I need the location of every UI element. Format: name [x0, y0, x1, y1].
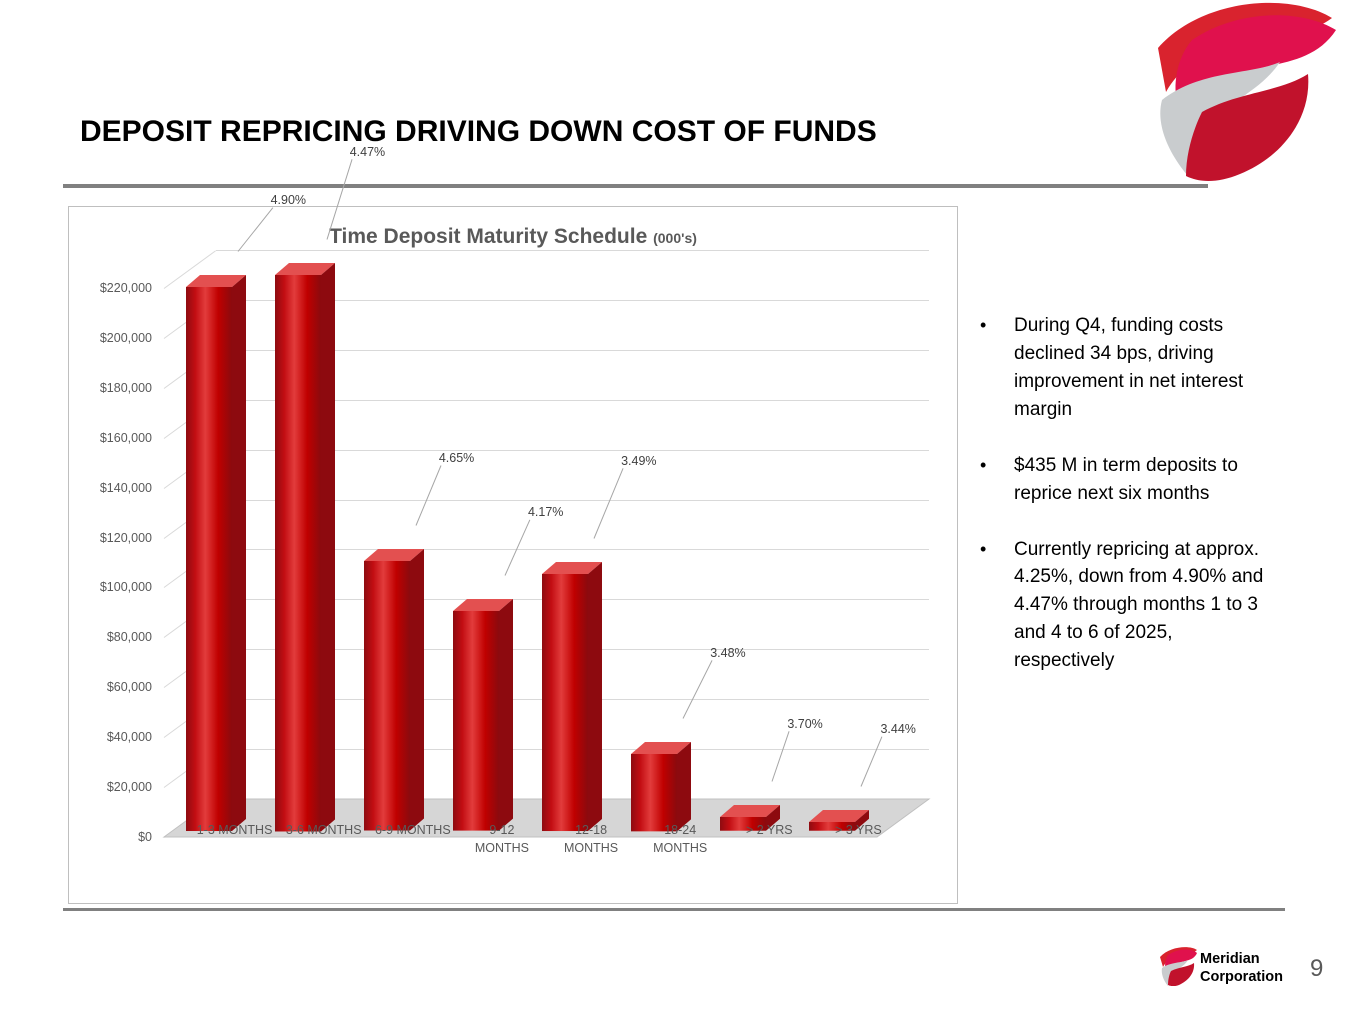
- bullet-item: •During Q4, funding costs declined 34 bp…: [980, 312, 1270, 424]
- footer-logo-icon: [1158, 946, 1198, 986]
- bullet-marker-icon: •: [980, 312, 1014, 424]
- bar-column: [275, 243, 321, 837]
- bullet-text: During Q4, funding costs declined 34 bps…: [1014, 312, 1270, 424]
- bar-side-face: [588, 562, 602, 831]
- bar-front-face: [453, 611, 499, 831]
- bar-column: [542, 542, 588, 837]
- bar-data-label: 4.17%: [528, 505, 563, 519]
- bar-front-face: [364, 561, 410, 831]
- footer-brand-line1: Meridian: [1200, 950, 1283, 968]
- bar-data-label: 3.49%: [621, 454, 656, 468]
- bar-side-face: [410, 549, 424, 831]
- bar-data-label: 3.44%: [880, 722, 915, 736]
- chart-plot-area: $0$20,000$40,000$60,000$80,000$100,000$1…: [69, 207, 957, 903]
- page-number: 9: [1310, 955, 1323, 983]
- bullet-marker-icon: •: [980, 452, 1014, 508]
- bar-side-face: [677, 742, 691, 831]
- bar-side-face: [321, 263, 335, 831]
- bar-column: [186, 255, 232, 837]
- bullet-item: •$435 M in term deposits to reprice next…: [980, 452, 1270, 508]
- bar-front-face: [631, 754, 677, 831]
- bullet-text: Currently repricing at approx. 4.25%, do…: [1014, 536, 1270, 676]
- bar-data-label: 3.70%: [787, 717, 822, 731]
- chart-container: Time Deposit Maturity Schedule (000's) $…: [68, 206, 958, 904]
- bar-front-face: [186, 287, 232, 831]
- bar-side-face: [232, 275, 246, 831]
- title-divider: [63, 184, 1208, 188]
- bar-side-face: [499, 599, 513, 831]
- bar-data-label: 4.47%: [350, 145, 385, 159]
- bar-front-face: [275, 275, 321, 831]
- footer-brand: Meridian Corporation: [1200, 950, 1283, 986]
- bullet-marker-icon: •: [980, 536, 1014, 676]
- bullet-text: $435 M in term deposits to reprice next …: [1014, 452, 1270, 508]
- bar-column: [364, 529, 410, 837]
- bar-data-label: 4.65%: [439, 451, 474, 465]
- bar-data-label: 3.48%: [710, 646, 745, 660]
- page-title: DEPOSIT REPRICING DRIVING DOWN COST OF F…: [80, 115, 877, 149]
- meridian-logo: [1140, 0, 1340, 185]
- bottom-divider: [63, 908, 1285, 911]
- bar-column: [453, 579, 499, 837]
- bar-front-face: [542, 574, 588, 831]
- bar-column: [631, 722, 677, 837]
- bullet-item: •Currently repricing at approx. 4.25%, d…: [980, 536, 1270, 676]
- bullet-list: •During Q4, funding costs declined 34 bp…: [980, 312, 1270, 703]
- footer-brand-line2: Corporation: [1200, 968, 1283, 986]
- x-axis-tick-label: > 3 YRS: [798, 821, 918, 839]
- bar-data-label: 4.90%: [271, 193, 306, 207]
